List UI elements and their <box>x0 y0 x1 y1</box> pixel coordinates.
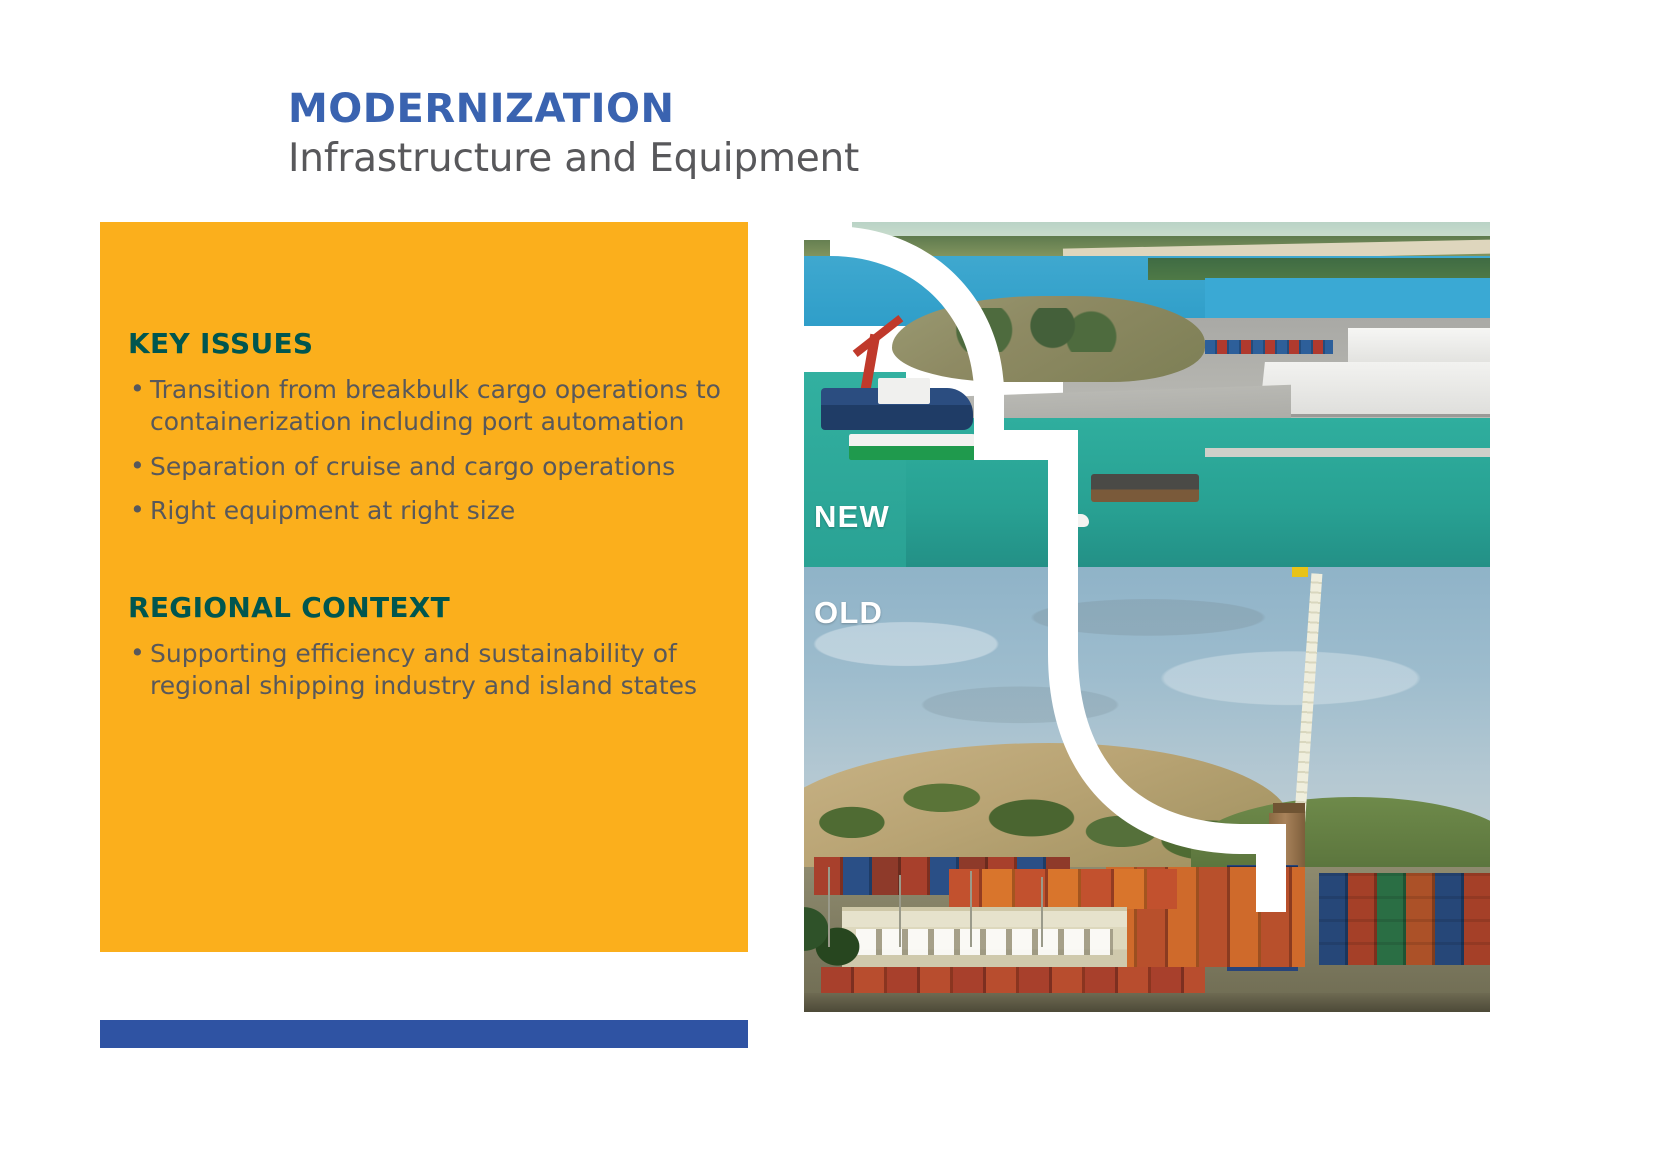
section-heading-regional-context: REGIONAL CONTEXT <box>128 591 730 624</box>
photo-stack: NEW OLD <box>778 222 1490 1012</box>
accent-bar <box>100 1020 748 1048</box>
photo-new-barge <box>1091 474 1199 502</box>
photo-new-small-boat <box>1049 514 1089 527</box>
content-panel: KEY ISSUES Transition from breakbulk car… <box>100 222 748 952</box>
photo-label-old: OLD <box>814 595 883 631</box>
slide-title-block: MODERNIZATION Infrastructure and Equipme… <box>288 88 1188 182</box>
photo-new-ferry <box>849 434 987 460</box>
page-subtitle: Infrastructure and Equipment <box>288 137 1188 182</box>
bullet-list-key-issues: Transition from breakbulk cargo operatio… <box>128 374 730 527</box>
page-title: MODERNIZATION <box>288 88 1188 131</box>
list-item: Transition from breakbulk cargo operatio… <box>128 374 730 439</box>
section-key-issues: KEY ISSUES Transition from breakbulk car… <box>128 327 730 527</box>
photo-new-warehouse-far <box>1348 328 1490 362</box>
photo-new-warehouse <box>1259 362 1490 417</box>
photo-label-new: NEW <box>814 499 890 535</box>
list-item: Separation of cruise and cargo operation… <box>128 451 730 483</box>
photo-new-ship-superstructure <box>878 378 930 404</box>
photo-old-crane-tip <box>1292 567 1308 577</box>
photo-new-container-row-far <box>1205 340 1333 354</box>
photo-new-mangrove <box>1148 258 1490 280</box>
bullet-list-regional-context: Supporting efficiency and sustainability… <box>128 638 730 703</box>
list-item: Right equipment at right size <box>128 495 730 527</box>
photo-new-inner-lagoon <box>1205 278 1490 318</box>
section-heading-key-issues: KEY ISSUES <box>128 327 730 360</box>
photo-old-light-poles <box>778 867 1490 977</box>
photo-old-quay <box>778 993 1490 1012</box>
photo-new-scrub <box>920 308 1134 352</box>
content-panel-inner: KEY ISSUES Transition from breakbulk car… <box>128 327 730 715</box>
photo-old-port <box>778 567 1490 1012</box>
list-item: Supporting efficiency and sustainability… <box>128 638 730 703</box>
section-regional-context: REGIONAL CONTEXT Supporting efficiency a… <box>128 591 730 703</box>
photo-new-pier <box>1205 448 1490 457</box>
